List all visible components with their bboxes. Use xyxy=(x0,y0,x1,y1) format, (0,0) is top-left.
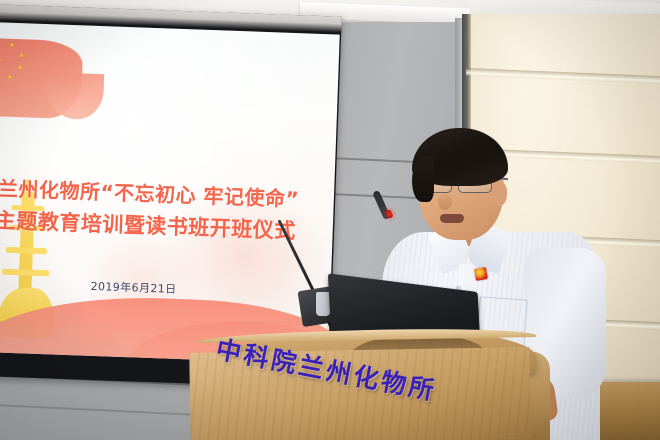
flag-small-star-icon: ★ xyxy=(17,65,23,71)
speaker-nose xyxy=(438,194,452,210)
podium-cup xyxy=(316,292,330,316)
projection-screen: ★ ★ ★ ★ ★ 兰州化物所“不忘初心 牢记使命” 主题教育培训暨读书班开班仪… xyxy=(0,22,340,364)
flag-small-star-icon: ★ xyxy=(9,43,15,49)
flag-small-star-icon: ★ xyxy=(7,75,13,81)
flag-small-star-icon: ★ xyxy=(19,53,25,59)
photo-scene: ★ ★ ★ ★ ★ 兰州化物所“不忘初心 牢记使命” 主题教育培训暨读书班开班仪… xyxy=(0,0,660,440)
speaker-mouth xyxy=(440,214,464,223)
party-emblem-badge-icon xyxy=(474,267,488,281)
slide-date: 2019年6月21日 xyxy=(90,278,177,297)
speaker-hair-side xyxy=(412,156,434,202)
